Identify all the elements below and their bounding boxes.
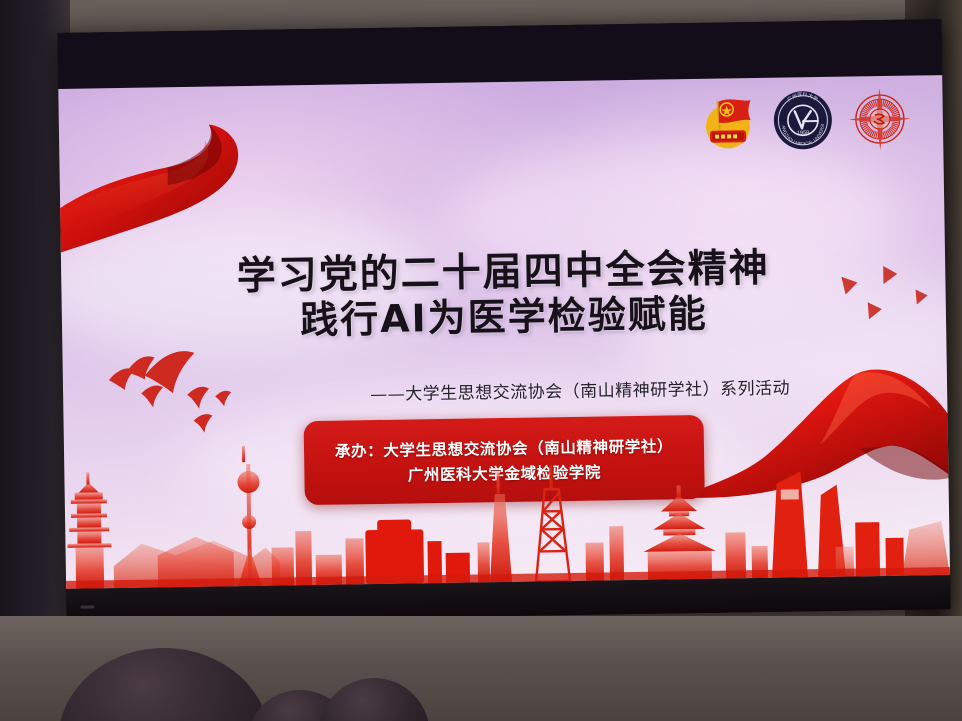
led-display-panel: 1958 GUANGZHOU MEDICAL UNIVERSITY 广州医科大学: [57, 19, 950, 623]
slide-subtitle: ——大学生思想交流协会（南山精神研学社）系列活动: [63, 371, 947, 410]
display-indicator-led: [80, 605, 94, 608]
communist-youth-league-emblem: [696, 90, 759, 153]
kingmed-compass-emblem: [846, 86, 913, 153]
svg-text:1958: 1958: [797, 130, 809, 136]
logo-row: 1958 GUANGZHOU MEDICAL UNIVERSITY 广州医科大学: [696, 86, 913, 155]
slide-title-block: 学习党的二十届四中全会精神 践行AI为医学检验赋能: [61, 243, 946, 346]
presentation-slide: 1958 GUANGZHOU MEDICAL UNIVERSITY 广州医科大学: [58, 75, 950, 589]
red-silk-ribbon-top-left: [58, 95, 341, 270]
guangzhou-medical-university-seal: 1958 GUANGZHOU MEDICAL UNIVERSITY 广州医科大学: [772, 90, 833, 151]
photo-scene: 1958 GUANGZHOU MEDICAL UNIVERSITY 广州医科大学: [0, 0, 962, 721]
red-city-skyline: [64, 425, 950, 589]
